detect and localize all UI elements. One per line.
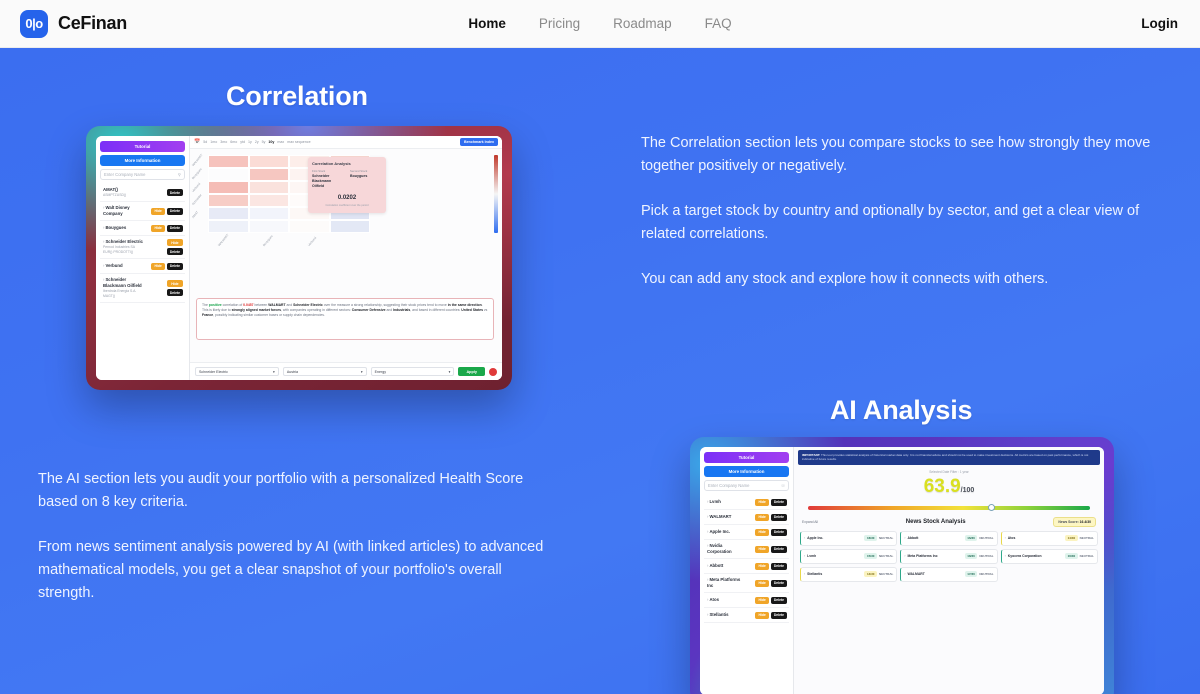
note-bold-5: United States [461, 308, 483, 312]
correlation-main-panel: 📅 5d 1mo 3mo 6mo ytd 1y 2y 5y 10y max ma… [190, 136, 502, 380]
tutorial-button[interactable]: Tutorial [100, 141, 185, 152]
delete-button[interactable]: Delete [167, 248, 183, 255]
ai-disclaimer-label: IMPORTANT: [802, 453, 820, 457]
nav-link-roadmap[interactable]: Roadmap [613, 16, 672, 31]
tooltip-second-value: Bouygues [350, 174, 382, 179]
news-card-score: 14/30 [1065, 535, 1078, 541]
news-card-sentiment: NEUTRAL [1080, 536, 1094, 540]
list-item[interactable]: › Abbott 16/30 NEUTRAL [900, 531, 997, 546]
heatmap-col-label: WALMART [217, 233, 230, 247]
chevron-right-icon: › [904, 536, 905, 540]
ai-disclaimer-banner: IMPORTANT: This tool provides statistica… [798, 450, 1100, 465]
list-item[interactable]: › Lvmh 15/30 NEUTRAL [800, 549, 897, 564]
list-item[interactable]: › Atos 14/30 NEUTRAL [1001, 531, 1098, 546]
chevron-right-icon: › [1005, 536, 1006, 540]
correlation-paragraph-3: You can add any stock and explore how it… [641, 268, 1153, 291]
news-card-score: 16/30 [965, 535, 978, 541]
login-button[interactable]: Login [1141, 16, 1178, 31]
note-number: 0.0457 [243, 303, 253, 307]
company-search-input[interactable]: Enter Company Name ⚲ [100, 169, 185, 180]
correlation-filter-bar: Schneider Electric ▾ Austria ▾ Energy ▾ … [190, 362, 502, 380]
news-card-score: 16/30 [864, 535, 877, 541]
company-name: Schneider Electric [105, 239, 143, 244]
ai-analysis-section-text: The AI section lets you audit your portf… [38, 468, 553, 605]
ai-paragraph-2: From news sentiment analysis powered by … [38, 536, 553, 605]
correlation-mock-sidebar: Tutorial More Information Enter Company … [96, 136, 190, 380]
ai-mock-sidebar: Tutorial More Information Enter Company … [700, 447, 794, 694]
company-name: WALMART [709, 514, 731, 519]
range-max[interactable]: max [277, 140, 284, 144]
range-ytd[interactable]: ytd [240, 140, 245, 144]
company-name: Schneider Blackmann Oilfield [103, 277, 142, 288]
top-navbar: 0|o CeFinan Home Pricing Roadmap FAQ Log… [0, 0, 1200, 48]
list-item[interactable]: ›Meta Platforms Inc Hide Delete [704, 574, 789, 593]
list-item[interactable]: › WALMART 17/30 NEUTRAL [900, 567, 997, 582]
more-information-button[interactable]: More Information [100, 155, 185, 166]
ai-disclaimer-text: This tool provides statistical analysis … [802, 453, 1088, 461]
nav-link-faq[interactable]: FAQ [705, 16, 732, 31]
apply-button[interactable]: Apply [458, 367, 485, 376]
hide-button[interactable]: Hide [755, 546, 768, 553]
sector-select-value: Energy [375, 370, 386, 374]
correlation-paragraph-2: Pick a target stock by country and optio… [641, 200, 1153, 246]
list-item[interactable]: › Kyocera Corporation 16/30 NEUTRAL [1001, 549, 1098, 564]
note-positive-word: positive [209, 303, 222, 307]
chevron-right-icon: › [904, 572, 905, 576]
company-sub: Pernod Industries SA EUR() PRODOTTI() [103, 245, 143, 255]
hide-button[interactable]: Hide [755, 529, 768, 536]
country-select-value: Austria [287, 370, 298, 374]
hide-button[interactable]: Hide [151, 208, 164, 215]
tooltip-second-label: Second Stock [350, 169, 382, 173]
hide-button[interactable]: Hide [151, 225, 164, 232]
note-stock-b: Schneider Electric [293, 303, 323, 307]
note-tail-3: , with companies operating in different … [281, 308, 351, 312]
note-and: and [287, 303, 293, 307]
news-score-badge: News Score: 16.4/30 [1053, 517, 1096, 527]
news-card-sentiment: NEUTRAL [1080, 554, 1094, 558]
news-card-sentiment: NEUTRAL [979, 572, 993, 576]
news-card-name: WALMART [907, 572, 962, 576]
stock-select-value: Schneider Electric [199, 370, 228, 374]
nav-link-home[interactable]: Home [468, 16, 506, 31]
news-score-label: News Score: [1058, 520, 1078, 524]
list-item[interactable]: AMAT() ASMPTZUSD() Delete [100, 184, 185, 202]
company-name: Stellantis [709, 612, 728, 617]
list-item[interactable]: › Apple Inc. 16/30 NEUTRAL [800, 531, 897, 546]
more-information-button[interactable]: More Information [704, 466, 789, 477]
heatmap-row-label: WALMART [191, 153, 204, 167]
range-5d[interactable]: 5d [203, 140, 207, 144]
note-tail-1: over the measure a strong relationship, … [324, 303, 447, 307]
news-card-sentiment: NEUTRAL [979, 536, 993, 540]
tooltip-title: Correlation Analysis [312, 161, 382, 166]
company-search-placeholder: Enter Company Name [708, 483, 749, 488]
hide-button[interactable]: Hide [167, 280, 183, 287]
note-stock-a: WALMART [268, 303, 285, 307]
chevron-down-icon: ▾ [449, 370, 451, 374]
company-name: Lvmh [709, 499, 720, 504]
ai-analysis-section-title: AI Analysis [830, 395, 972, 426]
list-item[interactable]: ›Schneider Electric Pernod Industries SA… [100, 236, 185, 259]
news-card-score: 18/30 [965, 553, 978, 559]
chevron-right-icon: › [1005, 554, 1006, 558]
tooltip-footnote: Correlation coefficient over the period [312, 204, 382, 207]
hide-button[interactable]: Hide [755, 597, 768, 604]
list-item[interactable]: ›Walt Disney Company Hide Delete [100, 202, 185, 221]
chevron-right-icon: › [804, 536, 805, 540]
news-section-title: News Stock Analysis [818, 519, 1053, 525]
correlation-heatmap-area: WALMART Bouygues Verbund Schneider AMAT … [190, 149, 502, 362]
range-3mo[interactable]: 3mo [220, 140, 227, 144]
tooltip-first-label: First Stock [312, 169, 344, 173]
news-score-value: 16.4/30 [1080, 520, 1091, 524]
correlation-screenshot: Tutorial More Information Enter Company … [96, 136, 502, 380]
chevron-right-icon: › [804, 572, 805, 576]
delete-button[interactable]: Delete [167, 208, 183, 215]
range-6mo[interactable]: 6mo [230, 140, 237, 144]
bell-icon[interactable]: ☉ [781, 483, 785, 488]
hide-button[interactable]: Hide [755, 612, 768, 619]
hide-button[interactable]: Hide [151, 263, 164, 270]
range-1y[interactable]: 1y [248, 140, 252, 144]
list-item[interactable]: ›Schneider Blackmann Oilfield Iberdrola … [100, 274, 185, 303]
company-search-input[interactable]: Enter Company Name ☉ [704, 480, 789, 491]
note-tail-6: , possibly indicating similar customer b… [213, 313, 325, 317]
note-mid: correlation of [223, 303, 243, 307]
company-search-placeholder: Enter Company Name [104, 172, 145, 177]
company-name: Abbott [709, 563, 723, 568]
company-name: Apple Inc. [709, 529, 730, 534]
health-score-knob[interactable] [988, 504, 995, 511]
news-section-header: Expand All News Stock Analysis News Scor… [802, 517, 1096, 527]
nav-links: Home Pricing Roadmap FAQ [468, 16, 731, 31]
delete-button[interactable]: Delete [771, 529, 787, 536]
brand[interactable]: 0|o CeFinan [20, 10, 127, 38]
delete-button[interactable]: Delete [771, 597, 787, 604]
chevron-down-icon: ▾ [361, 370, 363, 374]
note-between: between [254, 303, 267, 307]
company-sub: Iberdrola Energia S.A. MAGT() [103, 289, 143, 299]
range-2y[interactable]: 2y [255, 140, 259, 144]
hide-button[interactable]: Hide [755, 514, 768, 521]
note-tail-5: , and based in different countries: [410, 308, 460, 312]
correlation-paragraph-1: The Correlation section lets you compare… [641, 132, 1153, 178]
news-card-sentiment: NEUTRAL [879, 536, 893, 540]
list-item[interactable]: ›Apple Inc. Hide Delete [704, 525, 789, 540]
note-vs: vs [484, 308, 487, 312]
list-item[interactable]: ›Verbund Hide Delete [100, 259, 185, 274]
heatmap-color-scale [494, 155, 498, 233]
country-select[interactable]: Austria ▾ [283, 367, 367, 376]
expand-all-button[interactable]: Expand All [802, 520, 818, 524]
heatmap-row-label: Bouygues [191, 167, 203, 180]
chevron-right-icon: › [804, 554, 805, 558]
hide-button[interactable]: Hide [755, 580, 768, 587]
list-item[interactable]: › Stellantis 14/30 NEUTRAL [800, 567, 897, 582]
calendar-icon: 📅 [194, 139, 200, 145]
news-card-name: Abbott [907, 536, 962, 540]
tutorial-button[interactable]: Tutorial [704, 452, 789, 463]
page-body: Correlation The Correlation section lets… [0, 48, 1200, 694]
health-score-value: 63.963.9/100 [794, 476, 1104, 502]
ai-main-panel: IMPORTANT: This tool provides statistica… [794, 447, 1104, 694]
list-item[interactable]: ›WALMART Hide Delete [704, 510, 789, 525]
heatmap-row-label: AMAT [191, 210, 199, 219]
news-card-sentiment: NEUTRAL [879, 554, 893, 558]
news-card-score: 14/30 [864, 571, 877, 577]
delete-button[interactable]: Delete [771, 546, 787, 553]
tooltip-first-value: Schneider Blackmann Oilfield [312, 174, 344, 189]
note-tail-4: and [386, 308, 392, 312]
list-item[interactable]: ›Abbott Hide Delete [704, 559, 789, 574]
delete-button[interactable]: Delete [771, 580, 787, 587]
tooltip-correlation-value: 0.0202 [312, 195, 382, 201]
hide-button[interactable]: Hide [755, 499, 768, 506]
note-bold-2: strongly aligned market forces [232, 308, 281, 312]
news-card-sentiment: NEUTRAL [879, 572, 893, 576]
note-prefix: The [202, 303, 208, 307]
hide-button[interactable]: Hide [167, 239, 183, 246]
news-card-score: 16/30 [1065, 553, 1078, 559]
correlation-section-text: The Correlation section lets you compare… [641, 132, 1153, 291]
health-score-gauge[interactable] [808, 506, 1090, 510]
heatmap-row-label: Verbund [191, 182, 201, 193]
heatmap-col-label: Bouygues [262, 234, 274, 247]
list-item[interactable]: ›Atos Hide Delete [704, 593, 789, 608]
news-card-sentiment: NEUTRAL [979, 554, 993, 558]
range-10y[interactable]: 10y [268, 140, 274, 144]
company-name: Atos [709, 597, 719, 602]
search-icon: ⚲ [178, 172, 181, 177]
ai-analysis-screenshot: Tutorial More Information Enter Company … [700, 447, 1104, 694]
list-item[interactable]: ›Nvidia Corporation Hide Delete [704, 540, 789, 559]
note-bold-3: Consumer Defensive [352, 308, 386, 312]
hide-button[interactable]: Hide [755, 563, 768, 570]
news-card-name: Meta Platforms Inc [907, 554, 962, 558]
correlation-toolbar: 📅 5d 1mo 3mo 6mo ytd 1y 2y 5y 10y max ma… [190, 136, 502, 149]
news-card-name: Lvmh [807, 554, 862, 558]
chevron-right-icon: › [904, 554, 905, 558]
company-name: Meta Platforms Inc [707, 577, 740, 588]
correlation-explanation-note: The positive correlation of 0.0457 betwe… [196, 298, 494, 340]
delete-button[interactable]: Delete [771, 563, 787, 570]
company-name: AMAT() [103, 187, 118, 192]
health-score-suffix: /100 [961, 487, 975, 494]
brand-logo-icon: 0|o [20, 10, 48, 38]
list-item[interactable]: ›Lvmh Hide Delete [704, 495, 789, 510]
ai-date-filter-label: Selected Date Filter : 1 year [794, 470, 1104, 474]
correlation-device-frame: Tutorial More Information Enter Company … [86, 126, 512, 390]
news-card-name: Stellantis [807, 572, 862, 576]
delete-button[interactable]: Delete [167, 189, 183, 196]
range-max-sequence[interactable]: max sequence [287, 140, 310, 144]
ai-analysis-device-frame: Tutorial More Information Enter Company … [690, 437, 1114, 694]
company-name: Bouygues [105, 225, 126, 230]
list-item[interactable]: ›Bouygues Hide Delete [100, 221, 185, 236]
delete-button[interactable]: Delete [167, 263, 183, 270]
ai-paragraph-1: The AI section lets you audit your portf… [38, 468, 553, 514]
delete-button[interactable]: Delete [167, 289, 183, 296]
correlation-section-title: Correlation [226, 81, 368, 112]
sector-select[interactable]: Energy ▾ [371, 367, 455, 376]
list-item[interactable]: ›Stellantis Hide Delete [704, 608, 789, 623]
nav-link-pricing[interactable]: Pricing [539, 16, 580, 31]
chevron-down-icon: ▾ [273, 370, 275, 374]
note-bold-4: Industrials [393, 308, 410, 312]
delete-button[interactable]: Delete [167, 225, 183, 232]
benchmark-index-button[interactable]: Benchmark Index [460, 138, 498, 146]
note-bold-6: France [202, 313, 213, 317]
delete-button[interactable]: Delete [771, 612, 787, 619]
news-card-name: Kyocera Corporation [1008, 554, 1063, 558]
company-name: Nvidia Corporation [707, 543, 732, 554]
stock-select[interactable]: Schneider Electric ▾ [195, 367, 279, 376]
news-cards-grid: › Apple Inc. 16/30 NEUTRAL › Abbott 16/3… [800, 531, 1098, 582]
range-1mo[interactable]: 1mo [210, 140, 217, 144]
company-name: Verbund [105, 263, 122, 268]
note-bold-1: in the same direction [448, 303, 482, 307]
company-sub: ASMPTZUSD() [103, 193, 126, 198]
heatmap-row-label: Schneider [191, 193, 203, 206]
heatmap-col-label: Verbund [307, 236, 317, 247]
delete-button[interactable]: Delete [771, 499, 787, 506]
news-card-score: 17/30 [965, 571, 978, 577]
brand-name: CeFinan [58, 13, 127, 34]
correlation-tooltip-card: Correlation Analysis First Stock Schneid… [308, 157, 386, 213]
delete-button[interactable]: Delete [771, 514, 787, 521]
news-card-name: Atos [1008, 536, 1063, 540]
range-5y[interactable]: 5y [262, 140, 266, 144]
company-name: Walt Disney Company [103, 205, 130, 216]
list-item[interactable]: › Meta Platforms Inc 18/30 NEUTRAL [900, 549, 997, 564]
news-card-score: 15/30 [864, 553, 877, 559]
news-card-name: Apple Inc. [807, 536, 862, 540]
remove-dot-icon[interactable] [489, 368, 497, 376]
